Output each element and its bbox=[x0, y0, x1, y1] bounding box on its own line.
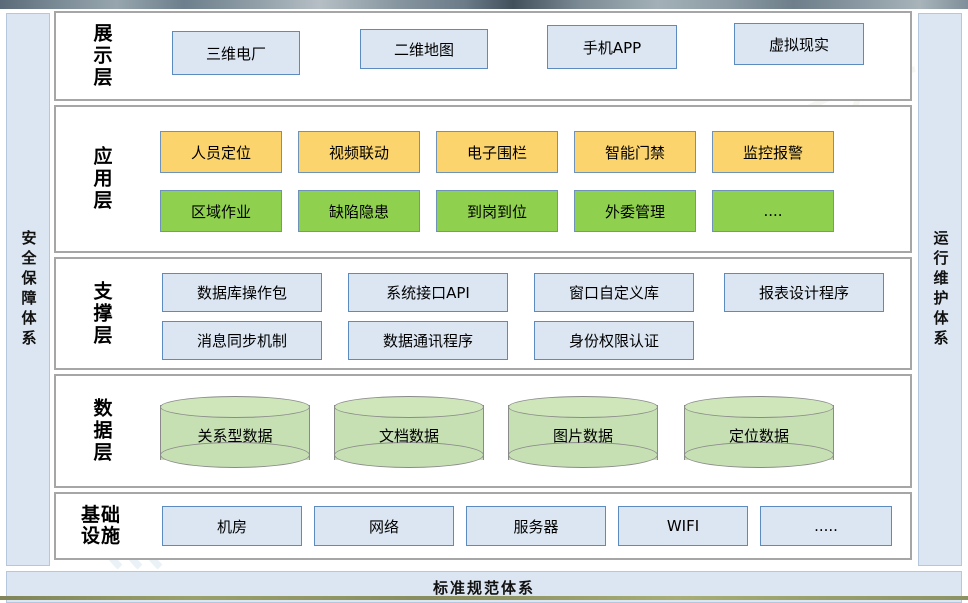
layer-support-title: 支撑层 bbox=[70, 259, 132, 368]
node-window-custom-library[interactable]: 窗口自定义库 bbox=[534, 273, 694, 312]
layer-data-title: 数据层 bbox=[70, 376, 132, 486]
node-application-more[interactable]: .... bbox=[712, 190, 834, 232]
cylinder-top bbox=[160, 396, 310, 418]
node-surveillance-alarm[interactable]: 监控报警 bbox=[712, 131, 834, 173]
node-network[interactable]: 网络 bbox=[314, 506, 454, 546]
cylinder-positioning-data[interactable]: 定位数据 bbox=[684, 396, 834, 468]
node-label: 人员定位 bbox=[191, 142, 251, 163]
sidebar-left-security-system[interactable]: 安全保障体系 bbox=[6, 13, 50, 566]
node-label: 身份权限认证 bbox=[569, 330, 659, 351]
layer-presentation-body: 三维电厂 二维地图 手机APP 虚拟现实 bbox=[152, 13, 902, 99]
node-report-design-program[interactable]: 报表设计程序 bbox=[724, 273, 884, 312]
node-label: 消息同步机制 bbox=[197, 330, 287, 351]
node-mobile-app[interactable]: 手机APP bbox=[547, 25, 677, 69]
layer-application-title: 应用层 bbox=[70, 107, 132, 251]
node-label: 服务器 bbox=[513, 516, 558, 537]
node-label: 系统接口API bbox=[386, 282, 470, 303]
cylinder-top bbox=[334, 396, 484, 418]
node-label: ..... bbox=[814, 517, 838, 535]
node-database-operation-package[interactable]: 数据库操作包 bbox=[162, 273, 322, 312]
node-servers[interactable]: 服务器 bbox=[466, 506, 606, 546]
node-label: .... bbox=[763, 202, 782, 220]
node-label: 二维地图 bbox=[394, 39, 454, 60]
node-label: 数据通讯程序 bbox=[383, 330, 473, 351]
node-personnel-positioning[interactable]: 人员定位 bbox=[160, 131, 282, 173]
sidebar-right-ops-maintenance-system[interactable]: 运行维护体系 bbox=[918, 13, 962, 566]
node-video-linkage[interactable]: 视频联动 bbox=[298, 131, 420, 173]
cylinder-top bbox=[684, 396, 834, 418]
architecture-diagram: 安全保障体系 运行维护体系 展示层 三维电厂 二维地图 手机APP bbox=[0, 9, 968, 596]
cylinder-image-data[interactable]: 图片数据 bbox=[508, 396, 658, 468]
node-on-post-on-duty[interactable]: 到岗到位 bbox=[436, 190, 558, 232]
top-photo-strip bbox=[0, 0, 968, 9]
node-server-room[interactable]: 机房 bbox=[162, 506, 302, 546]
layer-application-title-text: 应用层 bbox=[92, 146, 111, 212]
node-identity-permission-auth[interactable]: 身份权限认证 bbox=[534, 321, 694, 360]
bottom-photo-strip bbox=[0, 596, 968, 600]
layer-presentation-title: 展示层 bbox=[70, 13, 132, 99]
layer-infrastructure-title: 基础 设施 bbox=[70, 494, 132, 558]
sidebar-right-label: 运行维护体系 bbox=[933, 230, 948, 350]
node-defect-hazard[interactable]: 缺陷隐患 bbox=[298, 190, 420, 232]
node-label: 手机APP bbox=[583, 37, 641, 58]
layer-data-title-text: 数据层 bbox=[92, 398, 111, 464]
node-label: 到岗到位 bbox=[467, 201, 527, 222]
node-area-operation[interactable]: 区域作业 bbox=[160, 190, 282, 232]
node-label: 三维电厂 bbox=[206, 43, 266, 64]
bottom-bar-label: 标准规范体系 bbox=[433, 577, 535, 598]
layer-support[interactable]: 支撑层 数据库操作包 系统接口API 窗口自定义库 报表设计程序 消息同步 bbox=[54, 257, 912, 370]
cylinder-label: 文档数据 bbox=[334, 416, 484, 454]
node-wifi[interactable]: WIFI bbox=[618, 506, 748, 546]
layer-data-body: 关系型数据 文档数据 图片数据 bbox=[152, 376, 902, 486]
node-label: 智能门禁 bbox=[605, 142, 665, 163]
node-label: 数据库操作包 bbox=[197, 282, 287, 303]
node-label: WIFI bbox=[667, 517, 699, 535]
cylinder-relational-data[interactable]: 关系型数据 bbox=[160, 396, 310, 468]
node-label: 区域作业 bbox=[191, 201, 251, 222]
layer-stack: 展示层 三维电厂 二维地图 手机APP 虚拟现实 应用层 bbox=[54, 11, 912, 567]
layer-infrastructure-title-text: 基础 设施 bbox=[81, 505, 121, 548]
cylinder-label: 关系型数据 bbox=[160, 416, 310, 454]
node-label: 窗口自定义库 bbox=[569, 282, 659, 303]
node-smart-access-control[interactable]: 智能门禁 bbox=[574, 131, 696, 173]
node-virtual-reality[interactable]: 虚拟现实 bbox=[734, 23, 864, 65]
layer-support-title-text: 支撑层 bbox=[92, 281, 111, 347]
layer-support-body: 数据库操作包 系统接口API 窗口自定义库 报表设计程序 消息同步机制 数据通讯… bbox=[152, 259, 902, 368]
node-label: 机房 bbox=[217, 516, 247, 537]
node-label: 网络 bbox=[369, 516, 399, 537]
node-3d-power-plant[interactable]: 三维电厂 bbox=[172, 31, 300, 75]
cylinder-top bbox=[508, 396, 658, 418]
node-outsourcing-management[interactable]: 外委管理 bbox=[574, 190, 696, 232]
node-label: 外委管理 bbox=[605, 201, 665, 222]
layer-infrastructure[interactable]: 基础 设施 机房 网络 服务器 WIFI ..... bbox=[54, 492, 912, 560]
node-2d-map[interactable]: 二维地图 bbox=[360, 29, 488, 69]
node-system-interface-api[interactable]: 系统接口API bbox=[348, 273, 508, 312]
layer-infrastructure-title-line1: 基础 bbox=[81, 505, 121, 526]
node-message-sync-mechanism[interactable]: 消息同步机制 bbox=[162, 321, 322, 360]
node-label: 监控报警 bbox=[743, 142, 803, 163]
node-label: 虚拟现实 bbox=[769, 34, 829, 55]
layer-application-body: 人员定位 视频联动 电子围栏 智能门禁 监控报警 区域作业 bbox=[152, 107, 902, 251]
node-label: 缺陷隐患 bbox=[329, 201, 389, 222]
layer-presentation[interactable]: 展示层 三维电厂 二维地图 手机APP 虚拟现实 bbox=[54, 11, 912, 101]
node-label: 电子围栏 bbox=[467, 142, 527, 163]
sidebar-left-label: 安全保障体系 bbox=[21, 230, 36, 350]
cylinder-label: 定位数据 bbox=[684, 416, 834, 454]
cylinder-label: 图片数据 bbox=[508, 416, 658, 454]
layer-data[interactable]: 数据层 关系型数据 文档数据 bbox=[54, 374, 912, 488]
layer-infrastructure-body: 机房 网络 服务器 WIFI ..... bbox=[152, 494, 902, 558]
layer-infrastructure-title-line2: 设施 bbox=[81, 526, 121, 547]
node-infrastructure-more[interactable]: ..... bbox=[760, 506, 892, 546]
node-label: 报表设计程序 bbox=[759, 282, 849, 303]
layer-application[interactable]: 应用层 人员定位 视频联动 电子围栏 智能门禁 监控报警 bbox=[54, 105, 912, 253]
node-data-communication-program[interactable]: 数据通讯程序 bbox=[348, 321, 508, 360]
node-electronic-fence[interactable]: 电子围栏 bbox=[436, 131, 558, 173]
layer-presentation-title-text: 展示层 bbox=[92, 23, 111, 89]
node-label: 视频联动 bbox=[329, 142, 389, 163]
cylinder-document-data[interactable]: 文档数据 bbox=[334, 396, 484, 468]
